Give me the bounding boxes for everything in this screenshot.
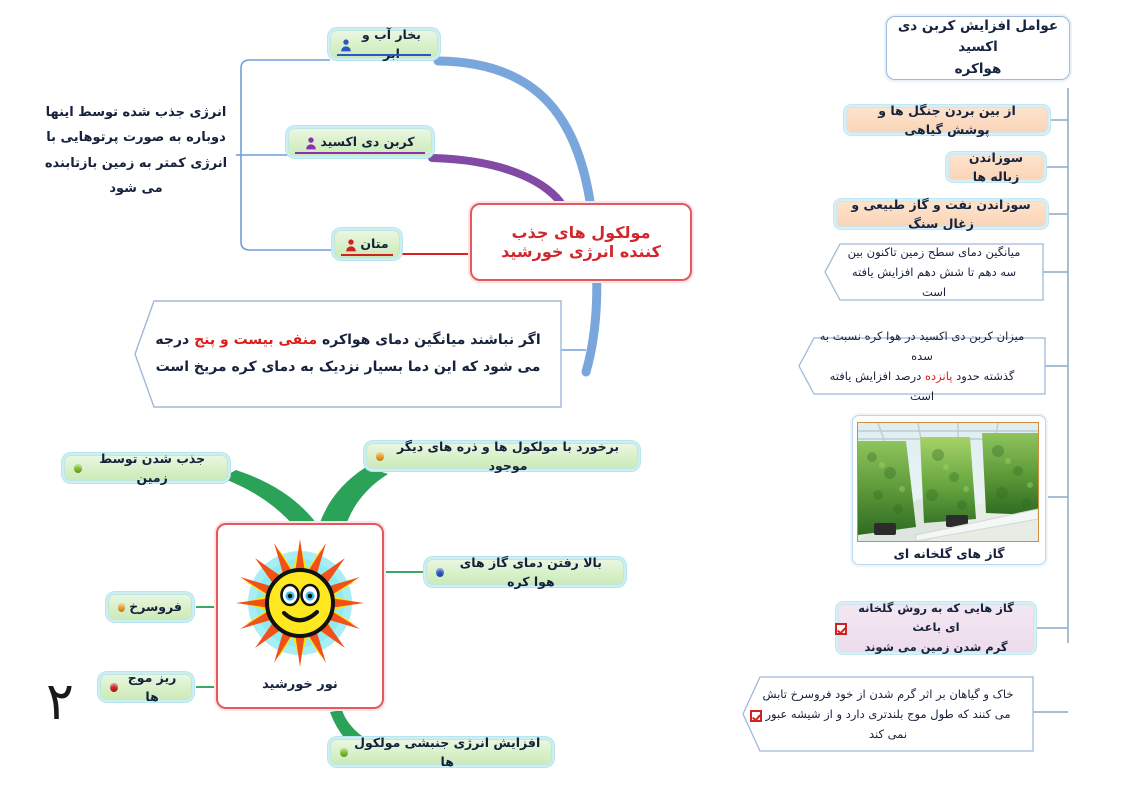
branch-underline: [337, 54, 431, 56]
mars-text-red2: ست و پنج: [194, 332, 263, 348]
cause-fossil-fuel-label: سوزاندن نفت و گاز طبیعی و زغال سنگ: [846, 195, 1036, 234]
sun-branch-gas-temperature-rise[interactable]: بالا رفتن دمای گاز های هوا کره: [426, 559, 624, 585]
branch-water-vapour-label: بخار آب و ابر: [355, 25, 428, 64]
checkbox-icon[interactable]: [835, 623, 847, 635]
absorbed-energy-paragraph: انرژی جذب شده توسط اینها دوباره به صورت …: [36, 100, 236, 201]
mindmap-page: انرژی جذب شده توسط اینها دوباره به صورت …: [0, 0, 1123, 794]
fact-co2-post: درصد افزایش یافته است: [830, 369, 934, 403]
bullet-dot: [110, 683, 118, 692]
fact-co2-increase[interactable]: میزان کربن دی اکسید در هوا کره نسبت به س…: [798, 337, 1046, 395]
right-panel-header-line2: هواکره: [955, 59, 1002, 81]
branch-methane[interactable]: متان: [334, 230, 400, 258]
mars-text-part4: زدیک به دمای کره مریخ است: [156, 359, 355, 375]
check-soil-line3: نمی کند: [760, 724, 1016, 744]
sun-branch-absorbed-by-earth[interactable]: جذب شدن توسط زمین: [64, 455, 228, 481]
branch-carbon-dioxide-label: کربن دی اکسید: [320, 132, 414, 151]
bullet-dot: [376, 452, 384, 461]
topic-line-2: کننده انرژی خورشید: [501, 242, 661, 261]
branch-carbon-dioxide[interactable]: کربن دی اکسید: [288, 128, 432, 156]
cause-waste-burning-label: سوزاندن زباله ها: [958, 148, 1034, 187]
sun-branch-absorbed-label: جذب شدن توسط زمین: [86, 449, 218, 488]
check-soil-plants-infrared[interactable]: خاک و گیاهان بر اثر گرم شدن از خود فروسر…: [742, 676, 1034, 752]
cause-fossil-fuel-burning[interactable]: سوزاندن نفت و گاز طبیعی و زغال سنگ: [836, 201, 1046, 227]
sun-branch-infrared[interactable]: فروسرخ: [108, 594, 192, 620]
mars-text-red1: منفی بی: [263, 332, 317, 348]
fact-co2-red: پانزده: [925, 369, 952, 383]
topic-line-1: مولکول های جذب: [512, 223, 651, 242]
branch-underline: [341, 254, 393, 256]
bullet-dot: [74, 464, 82, 473]
greenhouse-picture-card[interactable]: گاز های گلخانه ای: [852, 415, 1046, 565]
bullet-dot: [340, 748, 348, 757]
topic-solar-absorbing-molecules[interactable]: مولکول های جذب کننده انرژی خورشید: [470, 203, 692, 281]
greenhouse-caption: گاز های گلخانه ای: [859, 542, 1039, 561]
sun-branch-collision[interactable]: برخورد با مولکول ها و ذره های دیگر موجود: [366, 443, 638, 469]
checkbox-icon[interactable]: [750, 710, 762, 722]
fact-temp-line2: سه دهم تا شش دهم افزایش یافته است: [842, 262, 1026, 302]
person-icon: [305, 136, 317, 149]
sun-branch-microwaves[interactable]: ریز موج ها: [100, 674, 192, 700]
mars-text-part1: اگر نباشند میانگین دمای هواکره: [317, 332, 541, 348]
fact-co2-pre: گذشته حدود: [952, 369, 1014, 383]
check-soil-line1: خاک و گیاهان بر اثر گرم شدن از خود فروسر…: [760, 684, 1016, 704]
greenhouse-photo: [857, 422, 1039, 542]
mars-temperature-callout[interactable]: اگر نباشند میانگین دمای هواکره منفی بیست…: [134, 300, 562, 408]
check-greenhouse-line2: گرم شدن زمین می شوند: [864, 638, 1007, 658]
bullet-dot: [436, 568, 444, 577]
sun-branch-collision-label: برخورد با مولکول ها و ذره های دیگر موجود: [388, 437, 628, 476]
branch-methane-label: متان: [360, 234, 388, 253]
mars-callout-text: اگر نباشند میانگین دمای هواکره منفی بیست…: [134, 327, 562, 382]
sunlight-label: نور خورشید: [262, 677, 338, 692]
person-icon: [345, 238, 357, 251]
smiling-sun-icon: [230, 533, 370, 673]
sun-branch-kinetic-label: افزایش انرژی جنبشی مولکول ها: [352, 733, 542, 772]
fact-average-temperature[interactable]: میانگین دمای سطح زمین تاکنون بین سه دهم …: [824, 243, 1044, 301]
right-panel-header-line1: عوامل افزایش کربن دی اکسید: [887, 16, 1069, 59]
check-soil-line2: می کنند که طول موج بلندتری دارد و از شیش…: [760, 704, 1016, 724]
fact-temp-line1: میانگین دمای سطح زمین تاکنون بین: [842, 242, 1026, 262]
topic-sunlight[interactable]: نور خورشید: [216, 523, 384, 709]
cause-deforestation[interactable]: از بین بردن جنگل ها و پوشش گیاهی: [846, 107, 1048, 133]
bullet-dot: [118, 603, 125, 612]
branch-underline: [295, 152, 425, 154]
branch-water-vapour[interactable]: بخار آب و ابر: [330, 30, 438, 58]
sun-branch-kinetic-energy[interactable]: افزایش انرژی جنبشی مولکول ها: [330, 739, 552, 765]
page-number: ۲: [46, 672, 74, 732]
sun-branch-gas-temp-label: بالا رفتن دمای گاز های هوا کره: [448, 553, 614, 592]
person-icon: [340, 38, 352, 51]
cause-deforestation-label: از بین بردن جنگل ها و پوشش گیاهی: [856, 101, 1038, 140]
fact-co2-line1: میزان کربن دی اکسید در هوا کره نسبت به س…: [816, 326, 1028, 366]
sun-branch-infrared-label: فروسرخ: [129, 597, 182, 616]
check-greenhouse-gases[interactable]: گاز هایی که به روش گلخانه ای باعث گرم شد…: [838, 604, 1034, 652]
cause-waste-burning[interactable]: سوزاندن زباله ها: [948, 154, 1044, 180]
sun-branch-microwaves-label: ریز موج ها: [122, 668, 182, 707]
check-greenhouse-line1: گاز هایی که به روش گلخانه ای باعث: [849, 599, 1023, 638]
right-panel-header[interactable]: عوامل افزایش کربن دی اکسید هواکره: [886, 16, 1070, 80]
